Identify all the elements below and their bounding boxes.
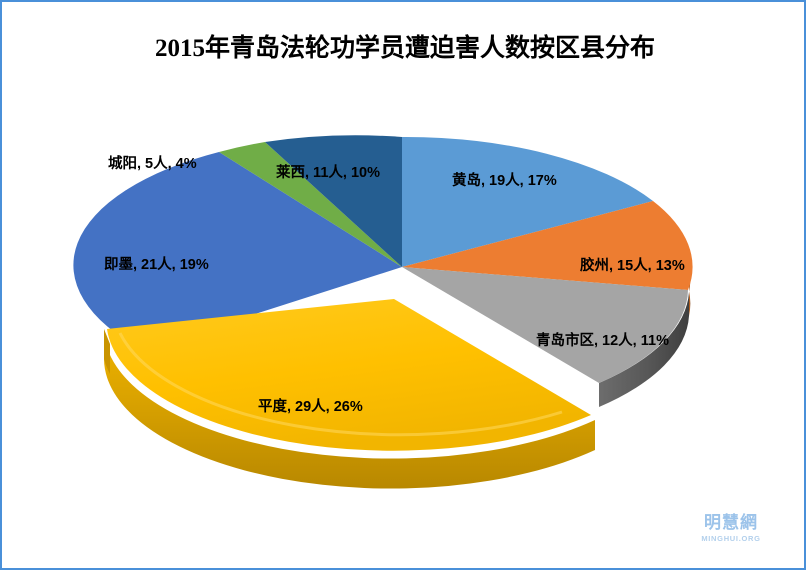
data-label-jiaozhou: 胶州, 15人, 13%	[580, 259, 685, 274]
data-label-jimo: 即墨, 21人, 19%	[104, 258, 209, 273]
watermark-chinese-text: 明慧網	[688, 514, 774, 533]
data-label-chengyang: 城阳, 5人, 4%	[108, 157, 197, 172]
data-label-qingdaoshiqu: 青岛市区, 12人, 11%	[536, 334, 669, 349]
watermark-english-text: MINGHUI.ORG	[688, 534, 774, 543]
pie-graphic	[2, 2, 806, 570]
data-label-laixi: 莱西, 11人, 10%	[276, 166, 380, 181]
pie-chart-canvas: 2015年青岛法轮功学员遭迫害人数按区县分布	[0, 0, 806, 570]
data-label-huangdao: 黄岛, 19人, 17%	[452, 174, 557, 189]
data-label-pingdu: 平度, 29人, 26%	[258, 400, 363, 415]
pie-plot-area	[2, 2, 806, 570]
minghui-watermark: 明慧網 MINGHUI.ORG	[688, 514, 774, 543]
